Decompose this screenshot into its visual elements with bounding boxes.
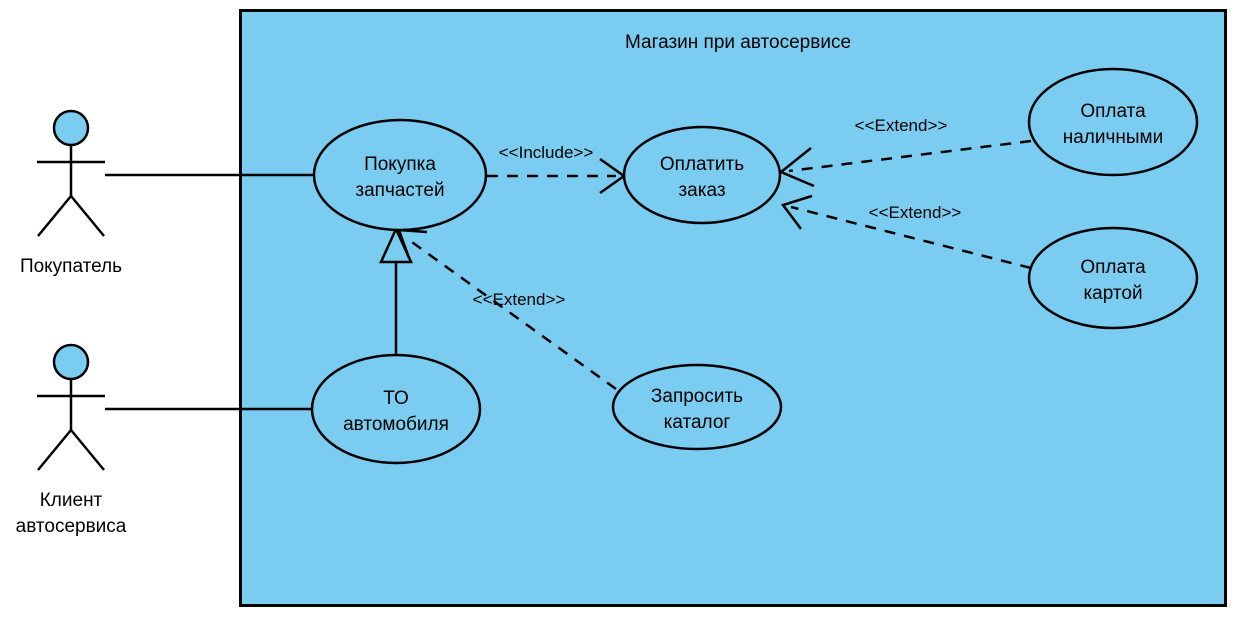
use-case-oplata-kartoy[interactable]: Оплата картой [1029,228,1197,328]
use-case-label-line1: Оплата [1080,257,1146,278]
use-case-label-line1: Оплата [1080,101,1146,122]
use-case-to-avtomobilya[interactable]: ТО автомобиля [312,355,480,463]
extend-label: <<Extend>> [855,116,948,135]
use-case-label-line2: запчастей [355,180,444,201]
use-case-zaprosit-katalog[interactable]: Запросить каталог [613,365,781,449]
use-case-label-line1: Покупка [364,154,436,175]
use-case-ellipse [1029,69,1197,175]
diagram-svg: Магазин при автосервисе Покупатель Клиен… [0,0,1233,621]
use-case-ellipse [613,365,781,449]
actor-right-leg-line [71,430,104,470]
use-case-label-line1: ТО [383,388,409,409]
actor-label: Покупатель [20,256,122,277]
use-case-label-line2: наличными [1063,127,1163,148]
extend-label: <<Extend>> [473,290,566,309]
use-case-ellipse [624,127,780,223]
use-case-ellipse [314,120,486,230]
actor-klient-avtoservisa[interactable]: Клиент автосервиса [16,345,127,537]
actor-left-leg-line [38,430,71,470]
actor-label-line1: Клиент [40,490,103,511]
use-case-label-line2: картой [1083,283,1142,304]
use-case-pokupka-zapchastey[interactable]: Покупка запчастей [314,120,486,230]
extend-label: <<Extend>> [869,203,962,222]
system-boundary-title: Магазин при автосервисе [625,32,851,53]
actor-left-leg-line [38,196,71,236]
use-case-oplatit-zakaz[interactable]: Оплатить заказ [624,127,780,223]
use-case-label-line2: заказ [678,180,725,201]
use-case-label-line2: каталог [664,412,731,433]
use-case-diagram-canvas: Магазин при автосервисе Покупатель Клиен… [0,0,1233,621]
actor-right-leg-line [71,196,104,236]
use-case-ellipse [1029,228,1197,328]
actor-head-icon [54,111,88,145]
actor-label-line2: автосервиса [16,516,127,537]
use-case-oplata-nalichnymi[interactable]: Оплата наличными [1029,69,1197,175]
include-label: <<Include>> [499,143,594,162]
use-case-label-line2: автомобиля [343,414,449,435]
actor-head-icon [54,345,88,379]
actor-pokupatel[interactable]: Покупатель [20,111,122,277]
use-case-ellipse [312,355,480,463]
use-case-label-line1: Оплатить [660,154,744,175]
use-case-label-line1: Запросить [651,386,743,407]
